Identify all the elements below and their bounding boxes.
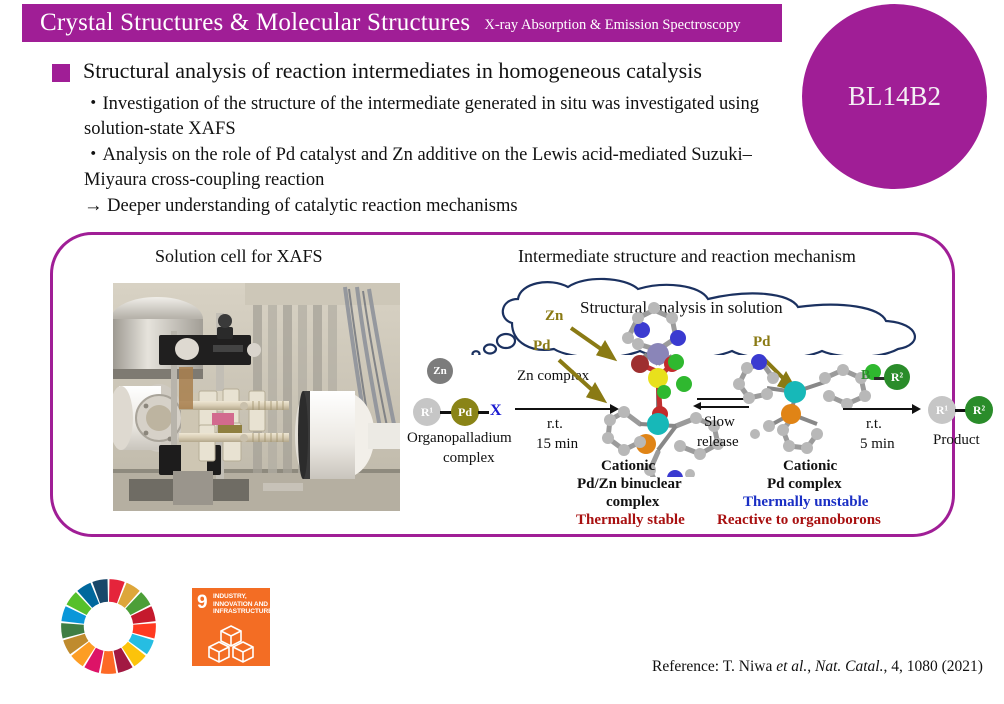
step2-arrow-line (843, 408, 915, 410)
beamline-badge: BL14B2 (802, 4, 987, 189)
sdg-wheel-segment (101, 651, 116, 674)
solution-cell-photograph (113, 283, 400, 511)
equilibrium-head-bottom (693, 402, 701, 410)
list-item: ・Investigation of the structure of the i… (84, 92, 784, 142)
pd-label: Pd (458, 405, 472, 420)
intermediate2-line1: Cationic (783, 458, 837, 475)
r2-circle-product: R² (965, 396, 993, 424)
reference-suffix: , 4, 1080 (2021) (883, 658, 982, 675)
step2-condition-2: 5 min (860, 436, 895, 453)
sdg-color-wheel-icon (57, 575, 160, 678)
r2-reagent-label: R² (891, 370, 903, 385)
r1-circle-start: R¹ (413, 398, 441, 426)
reference-journal: Nat. Catal. (815, 658, 883, 675)
x-label: X (490, 402, 502, 420)
r2-circle-reagent: R² (884, 364, 910, 390)
reference-separator: , (807, 658, 815, 675)
start-caption-line2: complex (443, 450, 495, 467)
sdg-cubes-icon (192, 620, 270, 664)
product-caption: Product (933, 432, 980, 449)
intermediate1-line3: complex (606, 494, 659, 511)
page-title: Crystal Structures & Molecular Structure… (40, 9, 470, 37)
r1-circle-product: R¹ (928, 396, 956, 424)
sdg-goal-title: INDUSTRY, INNOVATION AND INFRASTRUCTURE (213, 593, 269, 616)
header-bar: Crystal Structures & Molecular Structure… (22, 4, 782, 42)
intermediate2-line2: Pd complex (767, 476, 842, 493)
intermediate1-line1: Cationic (601, 458, 655, 475)
step2-arrow-head (912, 404, 921, 414)
product-r1-label: R¹ (936, 403, 948, 418)
sdg-goal-9-tile: 9 INDUSTRY, INNOVATION AND INFRASTRUCTUR… (192, 588, 270, 666)
list-item: ・Analysis on the role of Pd catalyst and… (84, 143, 784, 193)
beamline-badge-label: BL14B2 (848, 81, 941, 112)
panel-title-right: Intermediate structure and reaction mech… (518, 246, 856, 267)
pd-pointer-label-1: Pd (533, 338, 551, 355)
photo-graphic (113, 283, 400, 511)
intermediate2-note1: Thermally unstable (743, 494, 868, 511)
intermediate2-note2: Reactive to organoborons (717, 512, 881, 529)
start-caption-line1: Organopalladium (407, 430, 512, 447)
body-bullet-list: ・Investigation of the structure of the i… (84, 92, 784, 220)
reference-prefix: Reference: T. Niwa (652, 658, 776, 675)
list-item: → Deeper understanding of catalytic reac… (84, 194, 784, 219)
pd-circle-start: Pd (451, 398, 479, 426)
reference-etal: et al. (776, 658, 807, 675)
zn-chip-icon: Zn (427, 358, 453, 384)
zn-chip-label: Zn (433, 365, 446, 377)
headline-row: Structural analysis of reaction intermed… (52, 58, 702, 84)
intermediate1-note: Thermally stable (576, 512, 685, 529)
reference-text: Reference: T. Niwa et al., Nat. Catal., … (652, 658, 983, 676)
sdg-goal-number: 9 (197, 593, 208, 612)
headline-text: Structural analysis of reaction intermed… (83, 58, 702, 84)
reagent-b-label: B (861, 368, 870, 384)
reaction-scheme: Structural analysis in solution Zn R¹ Pd… (405, 270, 950, 535)
r1-label: R¹ (421, 405, 433, 420)
intermediate1-line2: Pd/Zn binuclear (577, 476, 682, 493)
bullet-square-icon (52, 64, 70, 82)
panel-title-left: Solution cell for XAFS (155, 246, 323, 267)
product-r2-label: R² (973, 403, 985, 418)
step2-condition-1: r.t. (866, 416, 882, 433)
step1-condition-2: 15 min (536, 436, 578, 453)
header-subtitle: X-ray Absorption & Emission Spectroscopy (484, 12, 740, 34)
bond-pd-x (478, 411, 489, 414)
